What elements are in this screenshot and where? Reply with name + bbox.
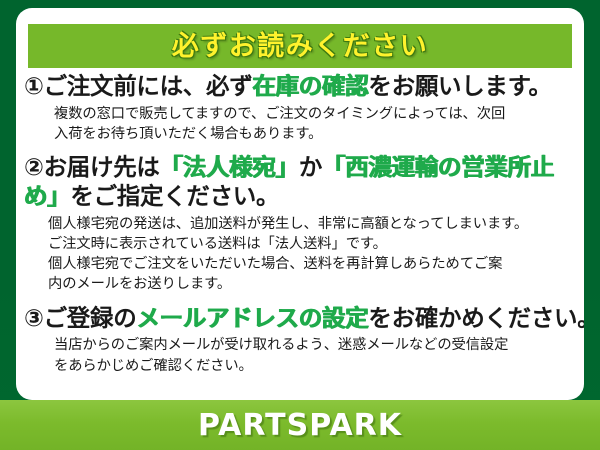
- notice-items: ①ご注文前には、必ず在庫の確認をお願いします。 複数の窓口で販売してますので、ご…: [16, 72, 584, 376]
- notice-item-1-part-3: をお願いします。: [368, 72, 551, 100]
- notice-item-2-part-5: をご指定ください。: [70, 182, 279, 210]
- notice-item-2-subline-4: 内のメールをお送りします。: [48, 274, 574, 294]
- notice-item-3-part-2-highlight: メールアドレスの設定: [136, 304, 368, 332]
- notice-item-3: ③ご登録のメールアドレスの設定をお確かめください。 当店からのご案内メールが受け…: [16, 304, 584, 376]
- notice-item-3-subtext: 当店からのご案内メールが受け取れるよう、迷惑メールなどの受信設定 をあらかじめご…: [24, 335, 574, 376]
- notice-item-3-part-1: ご登録の: [44, 304, 137, 332]
- notice-item-1-subline-1: 複数の窓口で販売してますので、ご注文のタイミングによっては、次回: [54, 104, 574, 124]
- notice-item-2-subline-1: 個人様宅宛の発送は、追加送料が発生し、非常に高額となってしまいます。: [48, 214, 574, 234]
- notice-item-2: ②お届け先は「法人様宛」か「西濃運輸の営業所止め」をご指定ください。 個人様宅宛…: [16, 153, 584, 295]
- notice-item-1-part-1: ご注文前には、必ず: [44, 72, 253, 100]
- notice-item-3-subline-1: 当店からのご案内メールが受け取れるよう、迷惑メールなどの受信設定: [54, 335, 574, 355]
- notice-item-2-subline-2: ご注文時に表示されている送料は「法人送料」です。: [48, 234, 574, 254]
- white-card: 必ずお読みください ①ご注文前には、必ず在庫の確認をお願いします。 複数の窓口で…: [16, 8, 584, 400]
- notice-item-2-subtext: 個人様宅宛の発送は、追加送料が発生し、非常に高額となってしまいます。 ご注文時に…: [24, 214, 574, 295]
- notice-item-2-number: ②: [24, 153, 44, 181]
- notice-item-2-part-1: お届け先は: [44, 153, 160, 181]
- notice-item-3-subline-2: をあらかじめご確認ください。: [54, 356, 574, 376]
- notice-item-2-part-3: か: [299, 153, 322, 181]
- notice-item-1: ①ご注文前には、必ず在庫の確認をお願いします。 複数の窓口で販売してますので、ご…: [16, 72, 584, 144]
- notice-item-1-subtext: 複数の窓口で販売してますので、ご注文のタイミングによっては、次回 入荷をお待ち頂…: [24, 104, 574, 145]
- notice-item-3-headline: ③ご登録のメールアドレスの設定をお確かめください。: [24, 304, 574, 333]
- notice-item-1-number: ①: [24, 72, 44, 100]
- notice-item-1-part-2-highlight: 在庫の確認: [252, 72, 368, 100]
- notice-item-1-subline-2: 入荷をお待ち頂いただく場合もあります。: [54, 124, 574, 144]
- brand-logo-text: PARTSPARK: [198, 408, 402, 443]
- page-title: 必ずお読みください: [172, 33, 429, 60]
- notice-item-2-subline-3: 個人様宅宛でご注文をいただいた場合、送料を再計算しあらためてご案: [48, 254, 574, 274]
- notice-banner: 必ずお読みください ①ご注文前には、必ず在庫の確認をお願いします。 複数の窓口で…: [0, 0, 600, 450]
- notice-item-3-part-3: をお確かめください。: [368, 304, 584, 332]
- footer-bar: PARTSPARK: [0, 400, 600, 450]
- notice-item-3-number: ③: [24, 304, 44, 332]
- title-bar: 必ずお読みください: [28, 24, 572, 68]
- notice-item-2-part-2-highlight: 「法人様宛」: [160, 153, 299, 181]
- notice-item-2-headline: ②お届け先は「法人様宛」か「西濃運輸の営業所止め」をご指定ください。: [24, 153, 574, 210]
- notice-item-1-headline: ①ご注文前には、必ず在庫の確認をお願いします。: [24, 72, 574, 101]
